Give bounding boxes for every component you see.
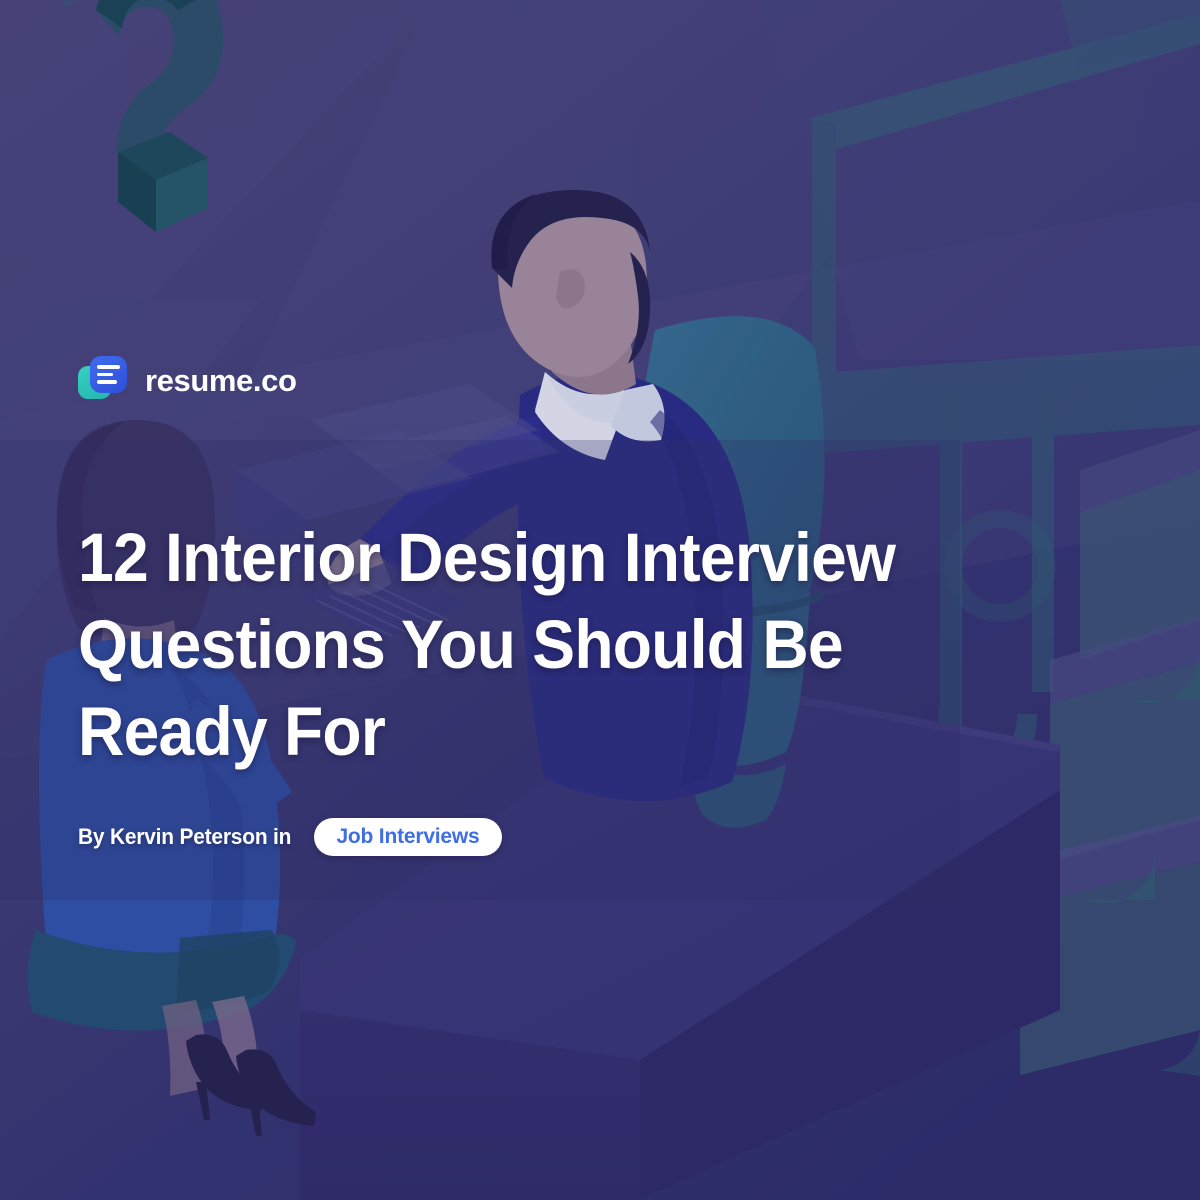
brand-name: resume.co [145,365,296,396]
title-line-1: 12 Interior Design Interview [78,514,915,601]
byline: By Kervin Peterson in Job Interviews [78,818,502,856]
brand-logo[interactable]: resume.co [78,355,296,405]
title-line-3: Ready For [78,688,915,775]
byline-author-text: By Kervin Peterson in [78,824,291,850]
title-line-2: Questions You Should Be [78,601,915,688]
document-lines-icon [78,355,128,405]
category-badge[interactable]: Job Interviews [314,818,501,856]
page-title: 12 Interior Design Interview Questions Y… [78,514,915,775]
article-hero-card: resume.co 12 Interior Design Interview Q… [0,0,1200,1200]
